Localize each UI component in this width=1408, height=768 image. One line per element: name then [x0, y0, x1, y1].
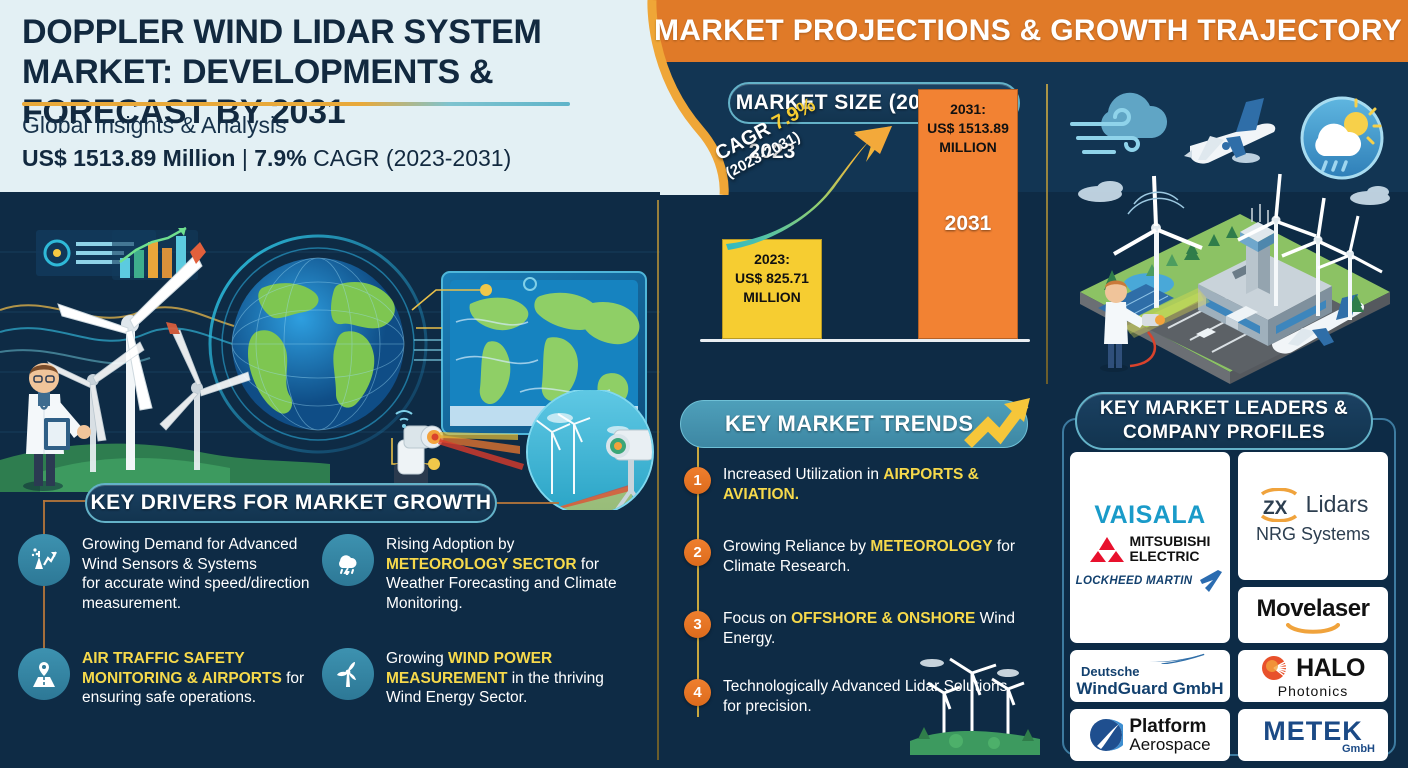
driver-2-pre: Rising Adoption by — [386, 536, 514, 553]
logo-card-platform-aerospace[interactable]: Platform Aerospace — [1070, 709, 1230, 761]
trend-1-pre: Increased Utilization in — [723, 466, 883, 483]
key-leaders-heading: KEY MARKET LEADERS & COMPANY PROFILES — [1075, 392, 1373, 450]
header-right-banner-title: MARKET PROJECTIONS & GROWTH TRAJECTORY — [648, 0, 1408, 62]
logo-card-movelaser[interactable]: Movelaser — [1238, 587, 1388, 643]
driver-3-bold: AIR TRAFFIC SAFETY MONITORING & AIRPORTS — [82, 650, 282, 687]
vertical-divider-right — [1046, 84, 1048, 384]
lockheed-text: LOCKHEED MARTIN — [1076, 575, 1193, 587]
logo-zx-lidars: ZX Lidars — [1258, 488, 1369, 522]
cagr-label-wrap: CAGR 7.9% (2023-2031) — [718, 122, 898, 252]
trend-1-text: Increased Utilization in AIRPORTS & AVIA… — [723, 465, 1023, 505]
wind-cloud-icon — [1072, 93, 1167, 152]
header-stat-cagr: 7.9% — [254, 145, 306, 171]
metek-gmbh: GmbH — [1342, 743, 1375, 755]
bar-2031-value: US$ 1513.89 — [927, 120, 1009, 136]
driver-1-line2: for accurate wind speed/direction measur… — [82, 575, 309, 612]
lockheed-star-icon — [1198, 568, 1224, 594]
driver-2-text: Rising Adoption by METEOROLOGY SECTOR fo… — [386, 534, 622, 613]
trend-3-pre: Focus on — [723, 610, 791, 627]
driver-item-meteorology: Rising Adoption by METEOROLOGY SECTOR fo… — [322, 534, 622, 613]
platform-line2: Aerospace — [1129, 736, 1210, 754]
header-stat-value: US$ 1513.89 Million — [22, 145, 235, 171]
driver-1-line1: Growing Demand for Advanced Wind Sensors… — [82, 536, 297, 573]
platform-line1: Platform — [1129, 717, 1210, 736]
trend-3-bold: OFFSHORE & ONSHORE — [791, 610, 975, 627]
driver-item-wind-power: Growing WIND POWER MEASUREMENT in the th… — [322, 648, 622, 708]
drivers-connector-h — [43, 500, 89, 502]
trend-item-3: 3 Focus on OFFSHORE & ONSHORE Wind Energ… — [672, 609, 1032, 649]
globe-icon — [210, 236, 426, 452]
logo-card-vaisala-mitsubishi-lockheed[interactable]: VAISALA MITSUBISHI ELECTRIC LOCKHEED MAR… — [1070, 452, 1230, 643]
trend-badge-4: 4 — [684, 679, 711, 706]
bar-2031-label: 2031: US$ 1513.89MILLION — [919, 100, 1017, 157]
zx-word: Lidars — [1306, 491, 1369, 518]
halo-burst-icon — [1261, 653, 1291, 683]
logo-card-halo-photonics[interactable]: HALO Photonics — [1238, 650, 1388, 702]
weather-badge-icon — [1302, 98, 1382, 178]
airport-isometric-illustration — [1050, 76, 1408, 386]
movelaser-swoosh-icon — [1286, 623, 1340, 635]
mitsubishi-mark-icon — [1090, 535, 1124, 563]
trend-item-2: 2 Growing Reliance by METEOROLOGY for Cl… — [672, 537, 1032, 577]
logo-vaisala: VAISALA — [1094, 501, 1205, 530]
trend-2-pre: Growing Reliance by — [723, 538, 870, 555]
trend-badge-1: 1 — [684, 467, 711, 494]
halo-row: HALO — [1261, 653, 1365, 683]
mitsubishi-text: MITSUBISHI ELECTRIC — [1130, 534, 1211, 564]
air-traffic-control-icon — [18, 648, 70, 700]
windguard-swoosh-icon — [1131, 653, 1221, 664]
logo-card-deutsche-windguard[interactable]: Deutsche WindGuard GmbH — [1070, 650, 1230, 702]
platform-row: Platform Aerospace — [1089, 717, 1210, 754]
bar-2031-year: 2031 — [950, 101, 981, 117]
trend-badge-2: 2 — [684, 539, 711, 566]
halo-word: HALO — [1296, 654, 1365, 683]
airplane-flying-icon — [1184, 98, 1275, 164]
driver-1-text: Growing Demand for Advanced Wind Sensors… — [82, 534, 318, 613]
driver-4-pre: Growing — [386, 650, 448, 667]
mitsubishi-line1: MITSUBISHI — [1130, 533, 1211, 549]
trend-item-1: 1 Increased Utilization in AIRPORTS & AV… — [672, 465, 1032, 505]
logo-nrg-systems: NRG Systems — [1256, 524, 1370, 545]
svg-text:ZX: ZX — [1263, 498, 1288, 519]
wind-sensor-chart-icon — [18, 534, 70, 586]
platform-text: Platform Aerospace — [1129, 717, 1210, 754]
logo-mitsubishi-electric: MITSUBISHI ELECTRIC — [1090, 534, 1211, 564]
company-logo-grid: VAISALA MITSUBISHI ELECTRIC LOCKHEED MAR… — [1070, 452, 1388, 748]
driver-4-text: Growing WIND POWER MEASUREMENT in the th… — [386, 648, 622, 708]
header-stat-cagr-tail: CAGR (2023-2031) — [307, 145, 512, 171]
trend-2-text: Growing Reliance by METEOROLOGY for Clim… — [723, 537, 1023, 577]
logo-card-metek[interactable]: METEK GmbH — [1238, 709, 1388, 761]
drivers-connector-right — [497, 502, 559, 504]
trend-up-arrow-icon — [960, 394, 1040, 456]
key-drivers-list: Growing Demand for Advanced Wind Sensors… — [0, 530, 660, 740]
platform-globe-icon — [1089, 718, 1123, 752]
windguard-line2: WindGuard GmbH — [1076, 679, 1223, 699]
wind-turbine-icon — [322, 648, 374, 700]
header-subtitle: Global Insights & Analysis — [22, 112, 287, 139]
logo-card-zx-nrg[interactable]: ZX Lidars NRG Systems — [1238, 452, 1388, 580]
mitsubishi-line2: ELECTRIC — [1130, 548, 1200, 564]
title-divider — [22, 102, 570, 106]
airport-ground-platform — [1080, 174, 1390, 384]
trend-badge-3: 3 — [684, 611, 711, 638]
key-drivers-heading: KEY DRIVERS FOR MARKET GROWTH — [85, 483, 497, 523]
leaders-heading-line1: KEY MARKET LEADERS & — [1100, 397, 1348, 421]
driver-item-wind-sensors: Growing Demand for Advanced Wind Sensors… — [18, 534, 318, 613]
lidar-circle-inset — [490, 390, 660, 510]
turbine-cluster-decor — [910, 645, 1040, 755]
driver-item-air-traffic: AIR TRAFFIC SAFETY MONITORING & AIRPORTS… — [18, 648, 318, 708]
trend-3-text: Focus on OFFSHORE & ONSHORE Wind Energy. — [723, 609, 1023, 649]
infographic-root: DOPPLER WIND LIDAR SYSTEM MARKET: DEVELO… — [0, 0, 1408, 768]
xtick-2031: 2031 — [918, 212, 1018, 374]
header-stat-line: US$ 1513.89 Million | 7.9% CAGR (2023-20… — [22, 145, 511, 172]
photonics-word: Photonics — [1278, 683, 1348, 699]
logo-movelaser: Movelaser — [1257, 595, 1370, 623]
windguard-line1: Deutsche — [1081, 664, 1140, 679]
driver-3-text: AIR TRAFFIC SAFETY MONITORING & AIRPORTS… — [82, 648, 318, 708]
leaders-heading-line2: COMPANY PROFILES — [1123, 421, 1325, 445]
zx-mark-icon: ZX — [1258, 488, 1300, 522]
logo-lockheed-martin: LOCKHEED MARTIN — [1076, 568, 1225, 594]
driver-2-bold: METEOROLOGY SECTOR — [386, 556, 577, 573]
trend-2-bold: METEOROLOGY — [870, 538, 992, 555]
header-stat-separator: | — [235, 145, 254, 171]
cloud-rain-lightning-icon — [322, 534, 374, 586]
